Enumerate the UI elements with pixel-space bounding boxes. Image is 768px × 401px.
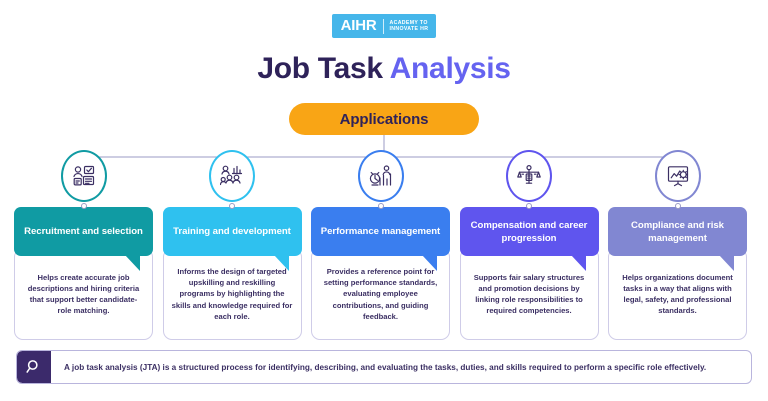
card-header-performance-management: Performance management (311, 207, 450, 256)
page-title-accent: Analysis (390, 52, 511, 85)
card-description: Informs the design of targeted upskillin… (172, 266, 293, 322)
logo-divider (383, 19, 384, 34)
column-recruitment-and-selection: Helps create accurate job descriptions a… (14, 150, 153, 340)
card-tail (274, 255, 289, 271)
card-title: Performance management (321, 225, 440, 238)
node-connector-dot (81, 203, 87, 209)
card-header-recruitment-and-selection: Recruitment and selection (14, 207, 153, 256)
logo-bar: AIHR ACADEMY TO INNOVATE HR (0, 14, 768, 38)
node-connector-dot (526, 203, 532, 209)
definition-footer: A job task analysis (JTA) is a structure… (16, 350, 752, 384)
column-performance-management: Provides a reference point for setting p… (311, 150, 450, 340)
card-title: Compensation and career progression (467, 219, 592, 245)
logo-tagline-line2: INNOVATE HR (390, 26, 429, 32)
logo-wordmark: AIHR (341, 18, 377, 34)
column-compliance-and-risk-management: Helps organizations document tasks in a … (608, 150, 747, 340)
logo-tagline: ACADEMY TO INNOVATE HR (390, 20, 429, 33)
page-title: Job Task Analysis (0, 52, 768, 86)
performance-gauge-chart-icon (358, 150, 404, 202)
node-connector-dot (378, 203, 384, 209)
card-tail (719, 255, 734, 271)
magnifier-icon (17, 351, 51, 383)
card-title: Compliance and risk management (615, 219, 740, 245)
card-header-training-and-development: Training and development (163, 207, 302, 256)
compensation-scale-icon (506, 150, 552, 202)
card-header-compensation-and-career-progression: Compensation and career progression (460, 207, 599, 256)
card-description: Helps organizations document tasks in a … (617, 272, 738, 317)
column-training-and-development: Informs the design of targeted upskillin… (163, 150, 302, 340)
definition-text: A job task analysis (JTA) is a structure… (51, 351, 751, 383)
card-description: Supports fair salary structures and prom… (469, 272, 590, 317)
aihr-logo: AIHR ACADEMY TO INNOVATE HR (332, 14, 437, 38)
card-tail (125, 255, 140, 271)
card-description: Helps create accurate job descriptions a… (23, 272, 144, 317)
card-title: Training and development (173, 225, 291, 238)
recruitment-screening-icon (61, 150, 107, 202)
applications-node-label: Applications (340, 111, 429, 128)
card-title: Recruitment and selection (24, 225, 143, 238)
card-description: Provides a reference point for setting p… (320, 266, 441, 322)
applications-columns: Helps create accurate job descriptions a… (14, 150, 754, 340)
page-title-main: Job Task (257, 52, 389, 85)
compliance-board-icon (655, 150, 701, 202)
node-connector-dot (675, 203, 681, 209)
card-tail (422, 255, 437, 271)
card-tail (571, 255, 586, 271)
column-compensation-and-career-progression: Supports fair salary structures and prom… (460, 150, 599, 340)
card-header-compliance-and-risk-management: Compliance and risk management (608, 207, 747, 256)
node-connector-dot (229, 203, 235, 209)
training-group-chart-icon (209, 150, 255, 202)
